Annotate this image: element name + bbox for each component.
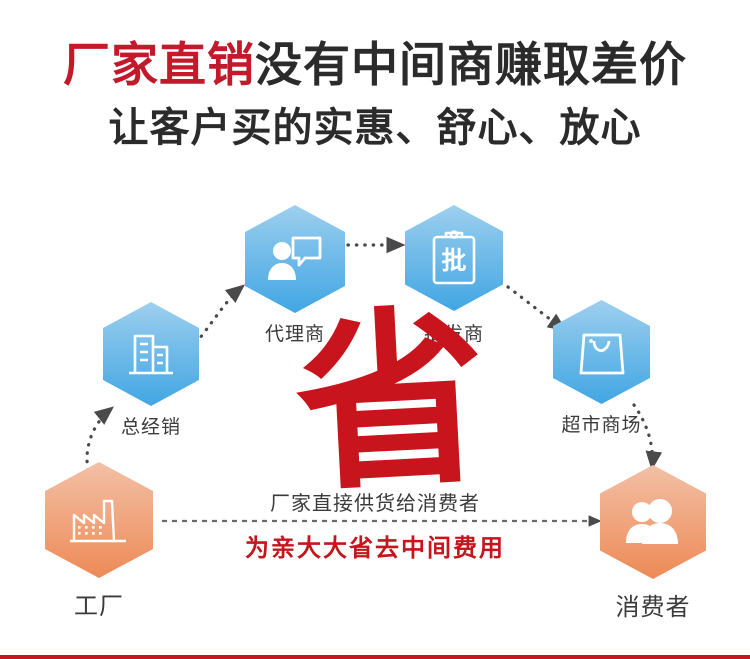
wholesaler-glyph: 批	[441, 246, 466, 275]
clipboard-pi-icon: 批	[428, 229, 480, 287]
promo-banner: 厂家直销没有中间商赚取差价 让客户买的实惠、舒心、放心	[0, 0, 750, 659]
node-label-supermarket: 超市商场	[561, 410, 641, 437]
headline-red: 厂家直销	[63, 38, 255, 91]
headline: 厂家直销没有中间商赚取差价	[0, 40, 750, 89]
subheadline: 让客户买的实惠、舒心、放心	[0, 106, 750, 150]
supermarket-hexagon	[553, 300, 650, 404]
shopping-bag-icon	[576, 325, 628, 379]
distributor-hexagon	[103, 302, 199, 406]
headline-dark: 没有中间商赚取差价	[255, 38, 687, 91]
node-distributor[interactable]: 总经销	[103, 302, 199, 406]
bottom-rule	[0, 655, 750, 659]
arrow-distributor-to-agent	[196, 286, 243, 343]
node-label-consumer: 消费者	[616, 587, 691, 622]
arrow-factory-to-distributor	[87, 408, 112, 470]
node-label-factory: 工厂	[74, 586, 124, 621]
save-character: 省	[292, 313, 481, 492]
person-chat-icon	[265, 232, 325, 286]
savings-caption: 为亲大大省去中间费用	[0, 528, 750, 563]
direct-supply-caption: 厂家直接供货给消费者	[0, 487, 750, 516]
building-icon	[124, 329, 178, 379]
node-supermarket[interactable]: 超市商场	[553, 300, 650, 404]
node-label-distributor: 总经销	[121, 412, 181, 439]
